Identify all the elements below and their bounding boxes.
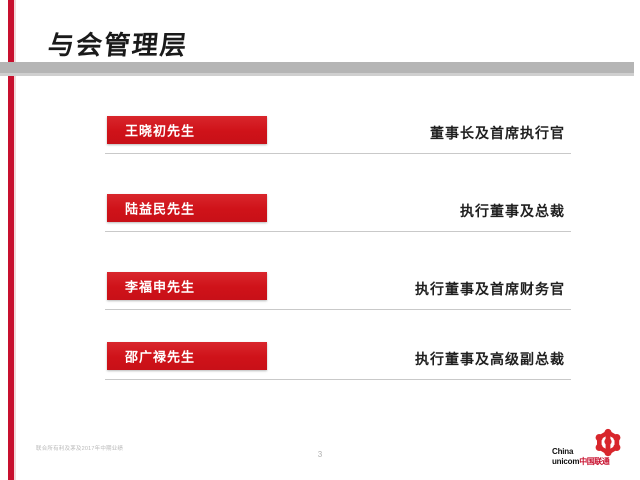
name-label: 陆益民先生: [125, 199, 195, 218]
name-label: 王晓初先生: [125, 121, 195, 140]
name-badge: 王晓初先生: [107, 116, 267, 144]
page-number: 3: [0, 450, 640, 459]
logo-wordmark: China unicom中国联通: [552, 448, 609, 466]
page-title: 与会管理层: [47, 33, 190, 59]
logo-text-chinese: 中国联通: [579, 458, 609, 466]
logo-text-unicom: unicom: [552, 458, 579, 466]
china-unicom-logo: China unicom中国联通: [552, 428, 628, 470]
name-badge: 陆益民先生: [107, 194, 267, 222]
row-divider: [105, 309, 571, 310]
title-gray-band: [0, 62, 634, 73]
management-row: 邵广禄先生 执行董事及高级副总裁: [105, 338, 571, 380]
role-label: 执行董事及高级副总裁: [415, 349, 565, 369]
name-label: 李福申先生: [125, 277, 195, 296]
role-label: 董事长及首席执行官: [430, 123, 565, 143]
role-label: 执行董事及总裁: [460, 201, 565, 221]
name-label: 邵广禄先生: [125, 347, 195, 366]
logo-text-china: China: [552, 448, 609, 456]
management-row: 李福申先生 执行董事及首席财务官: [105, 268, 571, 310]
row-divider: [105, 379, 571, 380]
role-label: 执行董事及首席财务官: [415, 279, 565, 299]
name-badge: 李福申先生: [107, 272, 267, 300]
management-row: 王晓初先生 董事长及首席执行官: [105, 112, 571, 154]
title-gray-band-light: [0, 73, 634, 76]
name-badge: 邵广禄先生: [107, 342, 267, 370]
row-divider: [105, 153, 571, 154]
slide-canvas: 与会管理层 王晓初先生 董事长及首席执行官 陆益民先生 执行董事及总裁 李福申先…: [0, 0, 640, 480]
management-row: 陆益民先生 执行董事及总裁: [105, 190, 571, 232]
row-divider: [105, 231, 571, 232]
